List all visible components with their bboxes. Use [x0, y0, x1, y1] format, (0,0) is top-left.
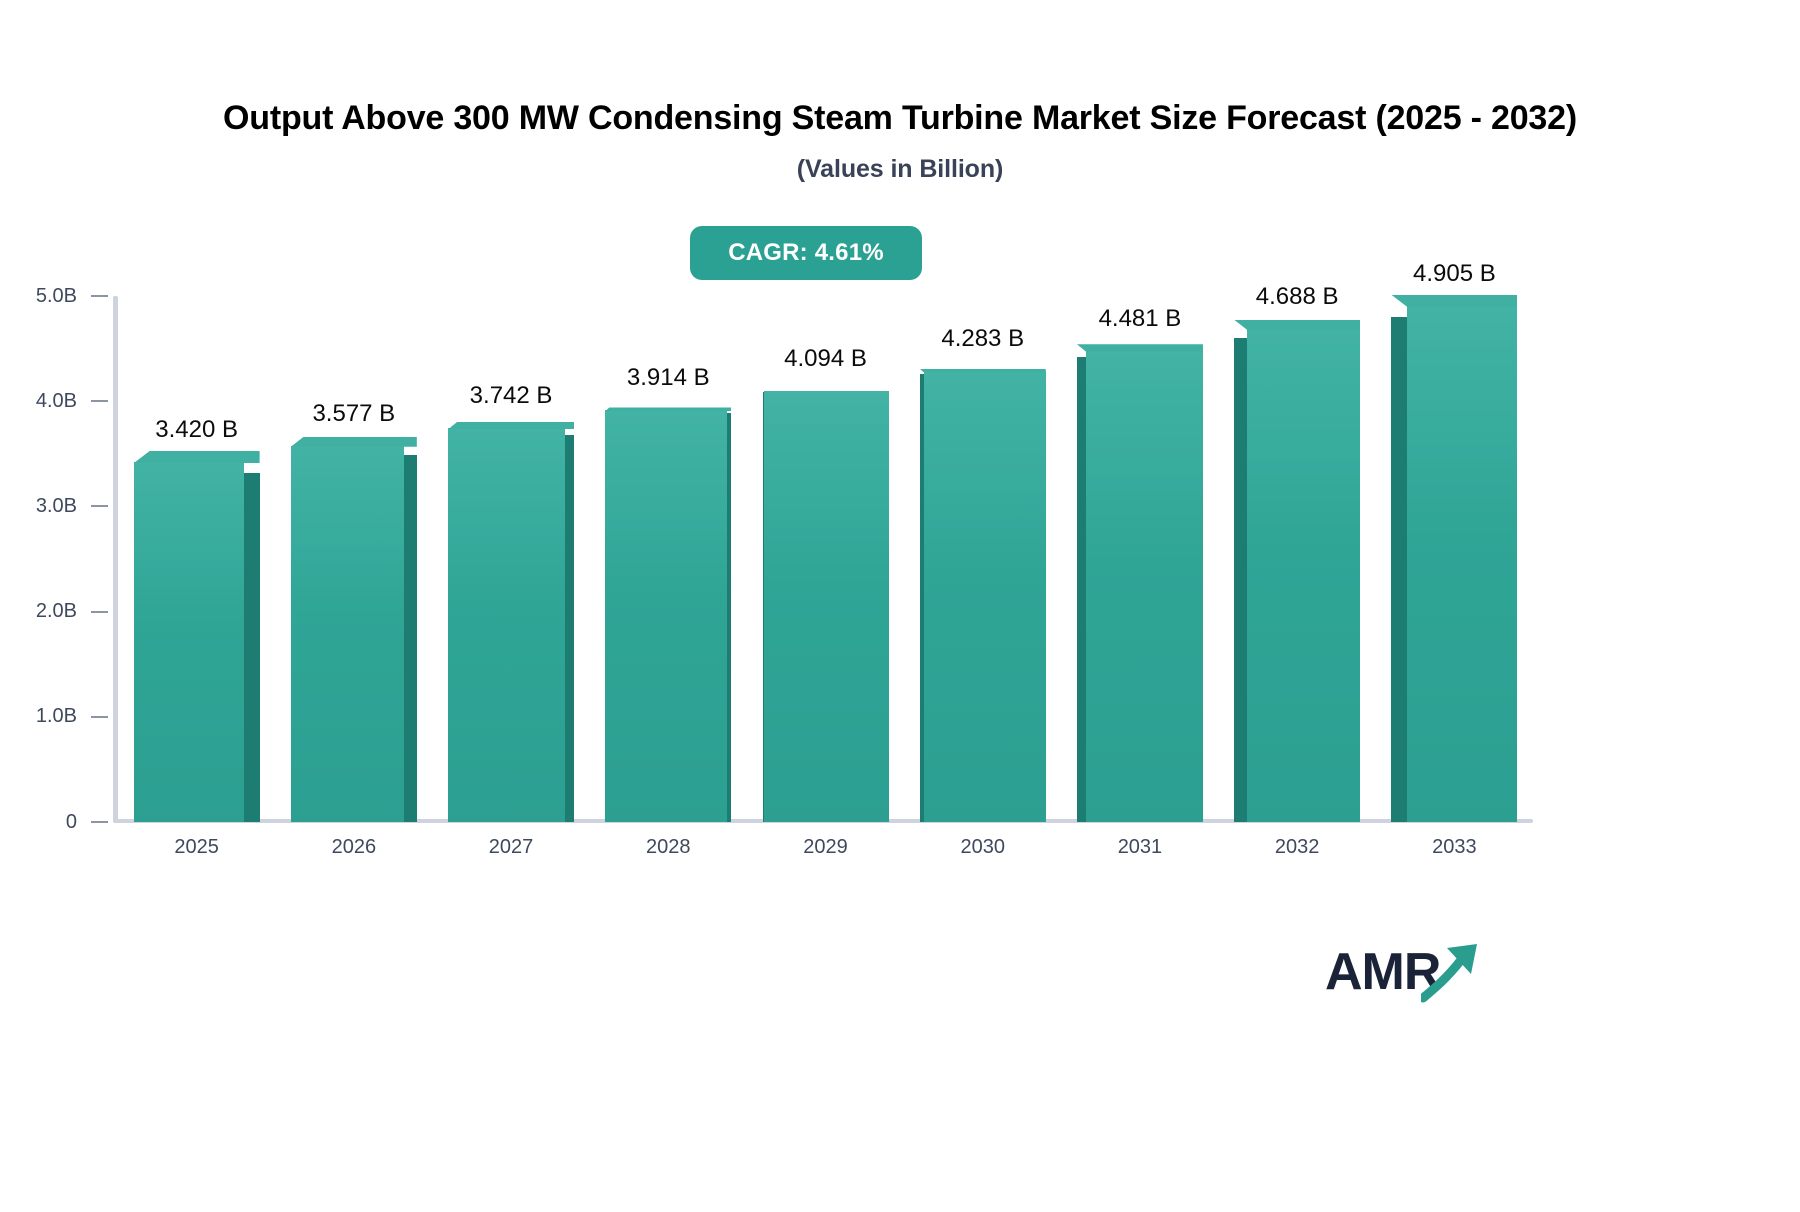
bar-front-face: [1247, 329, 1360, 822]
bar-value-label: 4.905 B: [1344, 260, 1564, 288]
bar-top-face: [1234, 320, 1360, 330]
growth-arrow-icon: [1421, 942, 1485, 1004]
y-axis-tick: 4.0B: [0, 391, 108, 411]
bar-top-face: [605, 407, 731, 411]
y-axis-tick: 5.0B: [0, 286, 108, 306]
bar-side-face: [920, 374, 924, 822]
bar-top-face: [448, 422, 574, 429]
bar-column[interactable]: [920, 371, 1046, 822]
bar-front-face: [291, 446, 404, 822]
y-tick-label: 0: [66, 811, 77, 834]
bar-front-face: [924, 371, 1046, 822]
bar-front-face: [134, 462, 244, 822]
y-tick-dash: [91, 716, 108, 718]
bar-column[interactable]: [763, 391, 889, 822]
bar-front-face: [1086, 351, 1203, 822]
amr-logo: AMR: [1325, 938, 1485, 1012]
y-tick-label: 5.0B: [36, 285, 77, 308]
bar-side-face: [727, 413, 731, 822]
bar-column[interactable]: [448, 428, 574, 822]
y-tick-label: 4.0B: [36, 390, 77, 413]
bar-side-face: [1391, 317, 1407, 822]
bar-side-face: [404, 455, 417, 822]
x-axis-label: 2028: [598, 836, 738, 859]
bar-side-face: [1077, 357, 1086, 822]
x-axis-label: 2026: [284, 836, 424, 859]
x-axis-label: 2033: [1384, 836, 1524, 859]
bar-column[interactable]: [605, 410, 731, 822]
y-tick-label: 1.0B: [36, 705, 77, 728]
bar-front-face: [1407, 306, 1517, 822]
bar-side-face: [565, 435, 574, 822]
x-axis-label: 2032: [1227, 836, 1367, 859]
y-axis-tick: 2.0B: [0, 602, 108, 622]
bar-front-face: [448, 428, 565, 822]
bar-top-face: [1077, 344, 1203, 351]
bar-top-face: [134, 451, 260, 463]
chart-canvas: Output Above 300 MW Condensing Steam Tur…: [0, 0, 1800, 1212]
bar-front-face: [764, 391, 889, 822]
y-axis-tick: 1.0B: [0, 707, 108, 727]
x-axis-label: 2027: [441, 836, 581, 859]
y-tick-dash: [91, 505, 108, 507]
bar-top-face: [1391, 295, 1517, 307]
y-tick-dash: [91, 821, 108, 823]
y-tick-dash: [91, 400, 108, 402]
bar-side-face: [244, 473, 260, 822]
plot-area: 01.0B2.0B3.0B4.0B5.0B 3.420 B3.577 B3.74…: [0, 0, 1800, 1212]
x-axis-label: 2030: [913, 836, 1053, 859]
bar-column[interactable]: [1077, 351, 1203, 822]
bar-side-face: [763, 392, 764, 822]
x-axis-label: 2029: [756, 836, 896, 859]
y-tick-label: 3.0B: [36, 495, 77, 518]
bar-column[interactable]: [1234, 329, 1360, 822]
y-axis-line: [113, 296, 118, 823]
bar-front-face: [605, 410, 727, 822]
y-axis-tick: 0: [0, 812, 108, 832]
y-axis-tick: 3.0B: [0, 496, 108, 516]
bar-top-face: [291, 437, 417, 447]
x-axis-label: 2031: [1070, 836, 1210, 859]
y-tick-dash: [91, 295, 108, 297]
x-axis-label: 2025: [127, 836, 267, 859]
bar-top-face: [920, 369, 1046, 373]
bar-column[interactable]: [134, 462, 260, 822]
bar-column[interactable]: [291, 446, 417, 822]
y-tick-label: 2.0B: [36, 600, 77, 623]
bar-column[interactable]: [1391, 306, 1517, 822]
y-tick-dash: [91, 611, 108, 613]
bar-side-face: [1234, 338, 1247, 822]
